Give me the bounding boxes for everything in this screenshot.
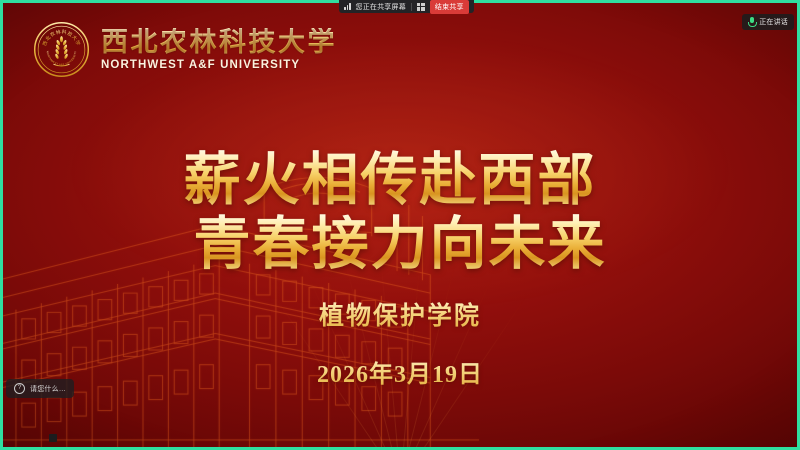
shared-slide: 西北农林科技大学 NORTHWEST A&F UNIVERSITY 西北农林科技… — [3, 3, 797, 447]
university-name-block: 西北农林科技大学 NORTHWEST A&F UNIVERSITY — [101, 28, 337, 70]
assist-overlay-label: 请您什么… — [30, 384, 66, 394]
slide-title: 薪火相传赴西部青春接力向未来 — [3, 149, 797, 277]
screen-share-toolbar[interactable]: 您正在共享屏幕 结束共享 — [339, 0, 474, 13]
slide-title-line-1: 薪火相传赴西部 — [184, 149, 597, 213]
sharing-status-text: 您正在共享屏幕 — [356, 2, 406, 12]
university-name-cn: 西北农林科技大学 — [101, 28, 337, 57]
department-name: 植物保护学院 — [3, 296, 797, 332]
masthead: 西北农林科技大学 NORTHWEST A&F UNIVERSITY 西北农林科技… — [33, 21, 337, 78]
university-name-en: NORTHWEST A&F UNIVERSITY — [101, 59, 337, 71]
toolbar-divider — [411, 3, 412, 11]
assist-overlay-pill[interactable]: 请您什么… — [6, 379, 74, 398]
grid-layout-icon[interactable] — [417, 3, 425, 11]
speaking-label: 正在讲话 — [759, 17, 788, 27]
slide-subtitle-block: 植物保护学院 2026年3月19日 — [3, 296, 797, 389]
end-share-button[interactable]: 结束共享 — [430, 0, 469, 14]
slide-date: 2026年3月19日 — [3, 354, 797, 389]
speaking-indicator: 正在讲话 — [742, 14, 794, 30]
signal-bars-icon — [344, 3, 351, 10]
university-wheat-emblem-icon: 西北农林科技大学 NORTHWEST A&F UNIVERSITY — [33, 21, 90, 78]
corner-marker — [49, 434, 57, 442]
slide-title-line-2: 青春接力向未来 — [194, 213, 607, 277]
help-circle-icon — [14, 383, 25, 394]
microphone-icon — [748, 17, 755, 27]
